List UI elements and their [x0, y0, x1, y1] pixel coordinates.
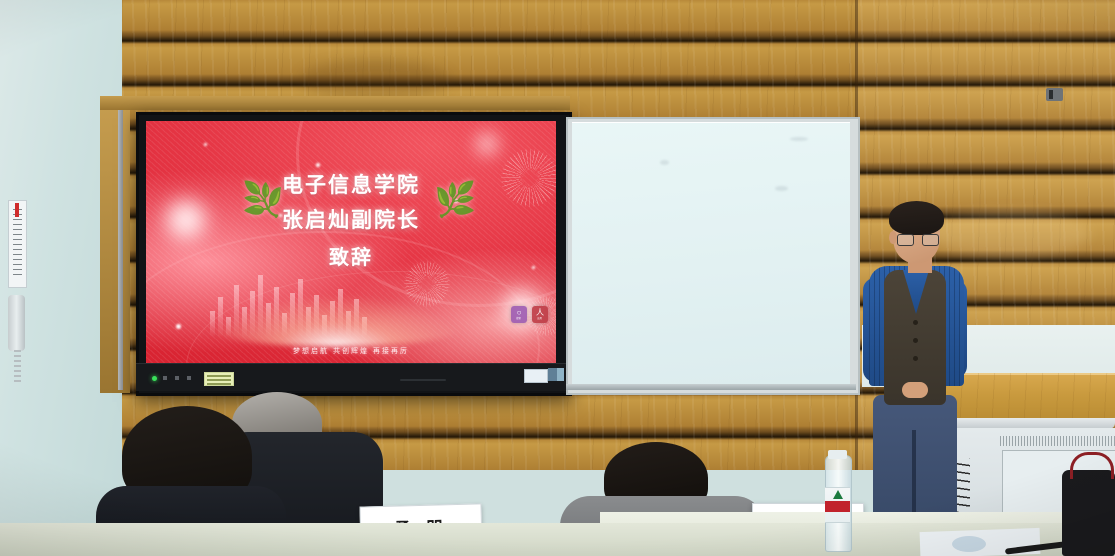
whiteboard-smudge — [790, 137, 808, 141]
bezel-sticker-dark — [548, 368, 557, 381]
intercom-handset-icon[interactable] — [8, 295, 25, 351]
bezel-sticker-label — [204, 372, 234, 386]
slide-title-line2: 张启灿副院长 — [146, 204, 556, 234]
search-app-label: 搜索 — [517, 318, 522, 320]
presentation-screen[interactable]: 🌿 🌿 电子信息学院 张启灿副院长 致辞 梦想启航 共创辉煌 再接再厉 ○ 搜索… — [146, 121, 556, 363]
slide-sparkle — [204, 143, 207, 146]
handbag-handle — [1070, 452, 1114, 479]
bottle-cap — [828, 450, 847, 459]
bottle-label — [825, 487, 850, 523]
writing-app-icon[interactable]: 人 应用 — [532, 306, 548, 323]
speaker-hair — [889, 201, 944, 235]
slide-title-line1: 电子信息学院 — [146, 169, 556, 199]
bezel-sticker-blue — [557, 368, 564, 381]
slide-glow — [474, 131, 500, 157]
slide-sparkle — [316, 163, 320, 167]
slide-app-shortcuts[interactable]: ○ 搜索 人 应用 — [511, 306, 548, 323]
display-frame-top — [100, 96, 570, 110]
vest-button — [913, 338, 918, 343]
wood-knot — [300, 60, 450, 100]
bottle-tree-icon — [833, 490, 843, 499]
wall-mount-bracket-icon — [1046, 88, 1063, 101]
speaker-ear — [889, 231, 897, 244]
eyeglasses-icon — [897, 234, 937, 244]
papers-logo — [952, 536, 986, 552]
screenshot-root: 🌿 🌿 电子信息学院 张启灿副院长 致辞 梦想启航 共创辉煌 再接再厉 ○ 搜索… — [0, 0, 1115, 556]
writing-app-label: 应用 — [538, 318, 543, 320]
podium-vent-grille — [1000, 436, 1115, 446]
bezel-asset-sticker — [524, 369, 548, 383]
wall-thermometer-icon — [8, 200, 27, 288]
handbag — [1062, 470, 1115, 556]
search-glyph: ○ — [517, 309, 522, 317]
display-frame-left — [100, 108, 130, 393]
display-brand-mark — [330, 370, 374, 375]
display-bezel — [136, 363, 566, 391]
slide-footer-slogan: 梦想启航 共创辉煌 再接再厉 — [146, 346, 556, 356]
bezel-buttons[interactable] — [163, 376, 199, 380]
vest-button — [913, 320, 918, 325]
whiteboard-smudge — [660, 160, 669, 165]
vest-button — [913, 356, 918, 361]
search-app-icon[interactable]: ○ 搜索 — [511, 306, 527, 323]
ir-sensor-strip — [400, 379, 446, 381]
intercom-cord — [14, 350, 21, 382]
slide-sparkle — [176, 324, 181, 329]
display-frame-rail — [118, 110, 123, 390]
slide-arc-glow — [186, 287, 486, 347]
power-led-icon — [152, 376, 157, 381]
slide-title-line3: 致辞 — [146, 241, 556, 270]
whiteboard-tray — [566, 384, 856, 390]
writing-glyph: 人 — [536, 309, 544, 317]
wood-highlight — [930, 210, 1090, 258]
whiteboard-smudge — [775, 186, 788, 191]
whiteboard-surface[interactable] — [572, 122, 850, 384]
speaker-hand — [902, 382, 928, 398]
